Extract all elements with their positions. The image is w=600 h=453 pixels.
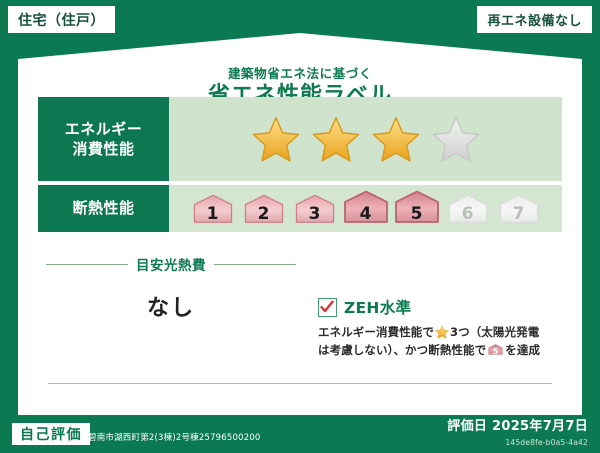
insulation-grade-scale: 1234567 xyxy=(190,190,542,228)
insulation-performance-row: 断熱性能 1234567 xyxy=(38,185,562,232)
insulation-grade-5: 5 xyxy=(394,190,440,228)
energy-performance-label: エネルギー 消費性能 xyxy=(38,97,169,181)
evaluation-date: 評価日 2025年7月7日 xyxy=(447,415,588,434)
utility-cost-value: なし xyxy=(46,290,296,322)
building-type-tag-label: 住宅（住戸） xyxy=(18,10,105,30)
energy-performance-row: エネルギー 消費性能 xyxy=(38,97,562,181)
heading-rule-right xyxy=(214,264,296,265)
insulation-grade-number: 7 xyxy=(496,206,542,223)
zeh-standard-heading: ZEH水準 xyxy=(318,296,568,318)
zeh-desc-part2: 3つ（太陽光発電 xyxy=(450,325,539,339)
property-address: 碧南市湖西町第2(3棟)2号棟25796500200 xyxy=(88,431,261,443)
insulation-grade-number: 4 xyxy=(343,206,389,223)
insulation-grade-3: 3 xyxy=(292,194,338,228)
insulation-performance-value: 1234567 xyxy=(169,185,562,232)
energy-performance-value xyxy=(169,97,562,181)
label-card: 建築物省エネ法に基づく 省エネ性能ラベル エネルギー 消費性能 断熱性能 xyxy=(18,33,582,415)
star-rating xyxy=(252,116,480,162)
insulation-grade-number: 6 xyxy=(445,206,491,223)
insulation-grade-number: 2 xyxy=(241,206,287,223)
utility-cost-heading: 目安光熱費 xyxy=(46,256,296,272)
zeh-desc-part4: を達成 xyxy=(505,343,540,357)
document-id: 145de8fe-b0a5-4a42 xyxy=(505,438,588,447)
self-evaluation-badge: 自己評価 xyxy=(12,423,90,445)
insulation-grade-4: 4 xyxy=(343,190,389,228)
zeh-desc-part1: エネルギー消費性能で xyxy=(318,325,434,339)
insulation-grade-number: 1 xyxy=(190,206,236,223)
section-divider xyxy=(48,383,552,384)
energy-label-screenshot: 住宅（住戸） 再エネ設備なし 建築物省エネ法に基づく 省エネ性能ラベル エネルギ… xyxy=(0,0,600,453)
checkbox-checked-icon xyxy=(318,298,337,317)
energy-performance-label-line1: エネルギー xyxy=(65,119,143,139)
building-type-tag: 住宅（住戸） xyxy=(8,6,115,33)
label-lower-section: 目安光熱費 なし ZEH水準 エネルギー消費性能で3つ（太陽光発 xyxy=(18,238,582,415)
label-footer: 自己評価 碧南市湖西町第2(3棟)2号棟25796500200 評価日 2025… xyxy=(0,415,600,453)
insulation-grade-icon: 5 xyxy=(488,342,503,357)
zeh-desc-part3: は考慮しない）、かつ断熱性能で xyxy=(318,343,486,357)
zeh-standard-title: ZEH水準 xyxy=(344,296,411,318)
label-subtitle: 建築物省エネ法に基づく xyxy=(18,67,582,81)
star-filled-icon xyxy=(312,116,360,162)
star-filled-icon xyxy=(252,116,300,162)
insulation-performance-label-line1: 断熱性能 xyxy=(72,198,134,218)
insulation-grade-6: 6 xyxy=(445,194,491,228)
star-icon xyxy=(435,325,449,339)
star-filled-icon xyxy=(372,116,420,162)
star-empty-icon xyxy=(432,116,480,162)
energy-performance-label-line2: 消費性能 xyxy=(72,139,134,159)
insulation-grade-icon-number: 5 xyxy=(488,348,503,356)
zeh-standard-description: エネルギー消費性能で3つ（太陽光発電 は考慮しない）、かつ断熱性能で5を達成 xyxy=(318,324,568,360)
insulation-grade-2: 2 xyxy=(241,194,287,228)
insulation-grade-number: 5 xyxy=(394,206,440,223)
renewable-energy-tag-label: 再エネ設備なし xyxy=(487,10,582,29)
insulation-performance-label: 断熱性能 xyxy=(38,185,169,232)
heading-rule-left xyxy=(46,264,128,265)
utility-cost-heading-label: 目安光熱費 xyxy=(136,254,206,274)
zeh-standard-block: ZEH水準 エネルギー消費性能で3つ（太陽光発電 は考慮しない）、かつ断熱性能で… xyxy=(318,296,568,360)
insulation-grade-7: 7 xyxy=(496,194,542,228)
self-evaluation-label: 自己評価 xyxy=(20,424,82,444)
insulation-grade-number: 3 xyxy=(292,206,338,223)
insulation-grade-1: 1 xyxy=(190,194,236,228)
renewable-energy-tag: 再エネ設備なし xyxy=(477,6,592,33)
